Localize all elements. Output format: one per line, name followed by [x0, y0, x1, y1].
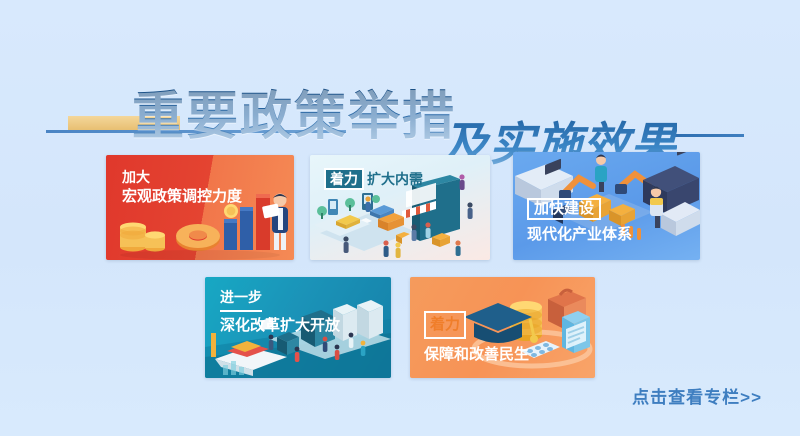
card-livelihood-tag: 着力 — [424, 311, 466, 339]
card-macro-policy-line2: 宏观政策调控力度 — [122, 187, 242, 206]
poster-header: 重要政策举措 及实施效果 — [0, 34, 800, 130]
card-domestic-demand-line2: 扩大内需 — [367, 171, 423, 187]
card-reform-opening-caption: 进一步 深化改革扩大开放 — [220, 287, 340, 336]
title-rule-right — [672, 134, 744, 137]
card-macro-policy-line1: 加大 — [122, 168, 242, 187]
card-domestic-demand-caption: 着力扩大内需 — [324, 169, 423, 189]
card-livelihood[interactable]: 着力 保障和改善民生 — [410, 277, 595, 378]
poster-canvas: 重要政策举措 及实施效果 — [0, 0, 800, 436]
card-reform-opening-line2: 深化改革扩大开放 — [220, 315, 340, 336]
card-reform-opening[interactable]: 进一步 深化改革扩大开放 — [205, 277, 391, 378]
card-macro-policy[interactable]: 加大 宏观政策调控力度 — [106, 155, 294, 260]
card-industrial-system[interactable]: 加快建设 现代化产业体系 — [513, 152, 700, 260]
card-industrial-system-caption: 加快建设 现代化产业体系 — [527, 198, 632, 246]
card-domestic-demand[interactable]: 着力扩大内需 — [310, 155, 490, 260]
card-reform-opening-line1: 进一步 — [220, 287, 262, 312]
card-livelihood-caption: 着力 保障和改善民生 — [424, 311, 529, 366]
card-domestic-demand-tag: 着力 — [324, 168, 364, 190]
card-industrial-system-line2: 现代化产业体系 — [527, 224, 632, 246]
card-industrial-system-line1: 加快建设 — [527, 198, 601, 220]
page-title-line1: 重要政策举措 — [132, 74, 456, 149]
card-livelihood-line2: 保障和改善民生 — [424, 344, 529, 366]
view-column-link[interactable]: 点击查看专栏>> — [632, 383, 762, 408]
card-macro-policy-caption: 加大 宏观政策调控力度 — [122, 168, 242, 206]
